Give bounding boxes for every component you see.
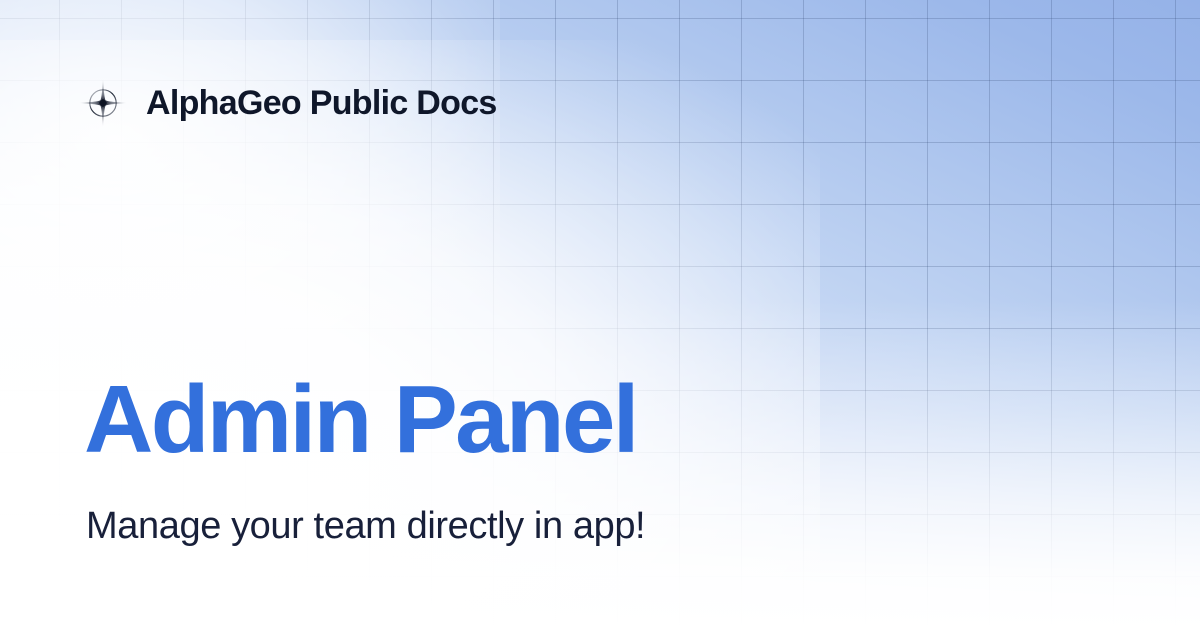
page-title: Admin Panel xyxy=(84,372,645,468)
brand-header: AlphaGeo Public Docs xyxy=(78,78,497,128)
brand-name: AlphaGeo Public Docs xyxy=(146,86,497,120)
page-subtitle: Manage your team directly in app! xyxy=(86,506,645,548)
compass-star-icon xyxy=(78,78,128,128)
compass-star-horizontal xyxy=(80,99,127,107)
hero-block: Admin Panel Manage your team directly in… xyxy=(84,372,645,548)
background-logo-glow xyxy=(0,0,500,340)
og-card: AlphaGeo Public Docs Admin Panel Manage … xyxy=(0,0,1200,630)
